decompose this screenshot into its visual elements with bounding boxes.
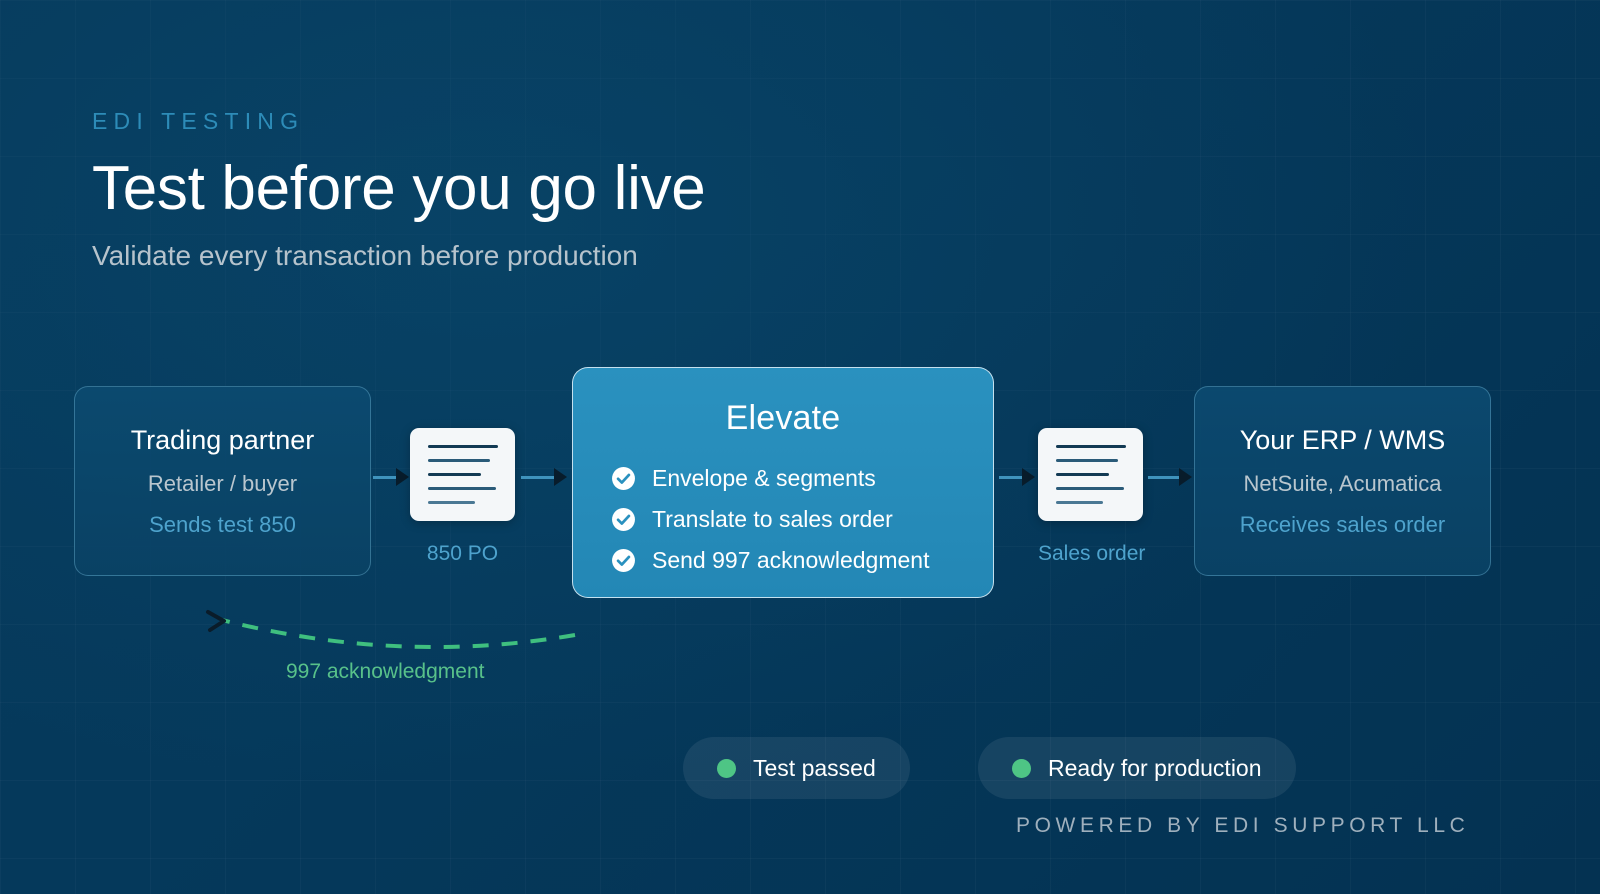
status-badge-test-passed: Test passed (683, 737, 910, 799)
doc-line (428, 459, 490, 462)
arrow-head (396, 468, 409, 486)
doc-line (1056, 445, 1126, 448)
status-dot-icon (1012, 759, 1031, 778)
check-circle-icon (611, 466, 636, 491)
checklist-label: Translate to sales order (652, 505, 893, 533)
arrow-shaft (999, 476, 1023, 479)
document-850-icon (410, 428, 515, 521)
checklist-item: Send 997 acknowledgment (611, 546, 929, 574)
page-title: Test before you go live (92, 152, 705, 226)
page-subtitle: Validate every transaction before produc… (92, 240, 638, 272)
document-sales-order-icon (1038, 428, 1143, 521)
doc-line (1056, 473, 1109, 476)
node-note: Sends test 850 (149, 511, 296, 539)
status-badge-label: Ready for production (1048, 755, 1262, 782)
node-subtitle: Retailer / buyer (148, 470, 297, 498)
flow-arrow-right-icon (999, 465, 1035, 489)
document-sales-order-label: Sales order (1038, 542, 1143, 566)
status-badge-label: Test passed (753, 755, 876, 782)
check-circle-icon (611, 548, 636, 573)
checklist-label: Envelope & segments (652, 464, 876, 492)
node-title: Your ERP / WMS (1240, 423, 1446, 457)
status-dot-icon (717, 759, 736, 778)
arrow-head (1022, 468, 1035, 486)
node-trading-partner: Trading partner Retailer / buyer Sends t… (74, 386, 371, 576)
flow-arrow-right-icon (373, 465, 409, 489)
arrow-shaft (521, 476, 555, 479)
node-elevate-hub: Elevate Envelope & segments Translate to… (572, 367, 994, 598)
arrow-shaft (373, 476, 397, 479)
infographic-canvas: EDI TESTING Test before you go live Vali… (0, 0, 1600, 894)
document-850-label: 850 PO (410, 542, 515, 566)
return-path-label: 997 acknowledgment (286, 660, 484, 684)
flow-arrow-right-icon (1148, 465, 1192, 489)
checklist-label: Send 997 acknowledgment (652, 546, 929, 574)
doc-line (1056, 459, 1118, 462)
node-subtitle: NetSuite, Acumatica (1243, 470, 1441, 498)
arrow-head (1179, 468, 1192, 486)
status-badge-ready-for-production: Ready for production (978, 737, 1296, 799)
doc-line (428, 445, 498, 448)
hub-checklist: Envelope & segments Translate to sales o… (573, 464, 929, 574)
doc-line (428, 501, 475, 504)
doc-line (1056, 487, 1124, 490)
node-title: Trading partner (131, 423, 315, 457)
doc-line (428, 487, 496, 490)
doc-line (428, 473, 481, 476)
arrow-shaft (1148, 476, 1180, 479)
arrow-head (554, 468, 567, 486)
doc-line (1056, 501, 1103, 504)
node-note: Receives sales order (1240, 511, 1445, 539)
eyebrow-label: EDI TESTING (92, 108, 304, 135)
checklist-item: Envelope & segments (611, 464, 929, 492)
return-path-997 (190, 590, 610, 660)
footer-credit: POWERED BY EDI SUPPORT LLC (1016, 814, 1469, 838)
hub-title: Elevate (726, 398, 841, 438)
node-erp-wms: Your ERP / WMS NetSuite, Acumatica Recei… (1194, 386, 1491, 576)
flow-arrow-right-icon (521, 465, 567, 489)
check-circle-icon (611, 507, 636, 532)
checklist-item: Translate to sales order (611, 505, 929, 533)
